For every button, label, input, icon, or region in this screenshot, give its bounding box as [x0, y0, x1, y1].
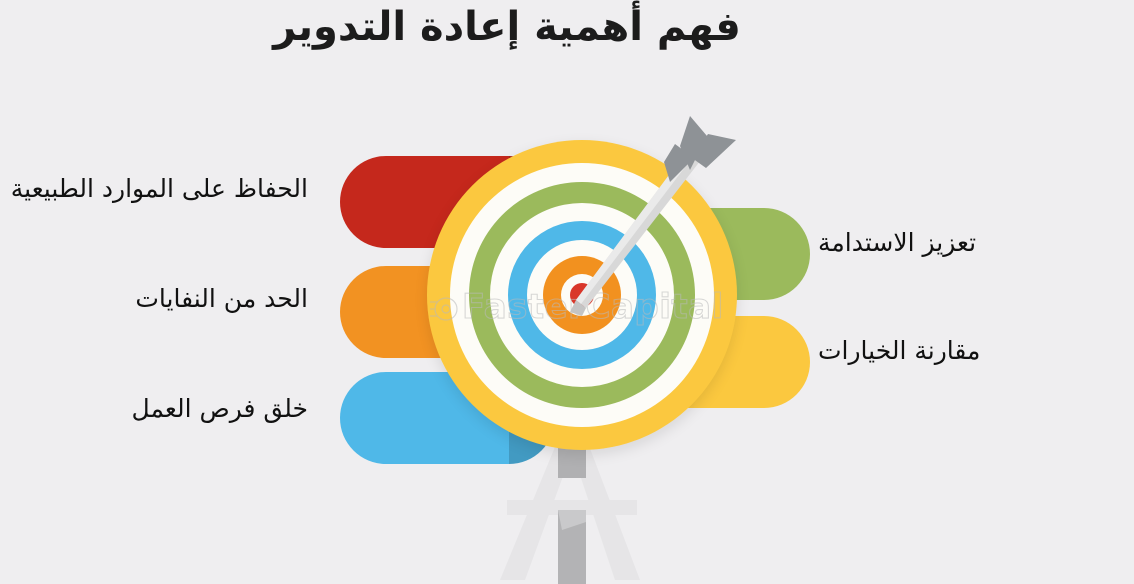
page-title: فهم أهمية إعادة التدوير [0, 2, 1134, 52]
arrow-graphic [540, 112, 760, 322]
item-label-3: خلق فرص العمل [132, 394, 308, 423]
item-label-4: تعزيز الاستدامة [818, 228, 976, 257]
item-label-2: الحد من النفايات [135, 284, 308, 313]
infographic-canvas: فهم أهمية إعادة التدوير 1 2 3 4 5 [0, 0, 1134, 584]
item-label-5: مقارنة الخيارات [818, 336, 980, 365]
item-label-1: الحفاظ على الموارد الطبيعية [11, 174, 308, 203]
